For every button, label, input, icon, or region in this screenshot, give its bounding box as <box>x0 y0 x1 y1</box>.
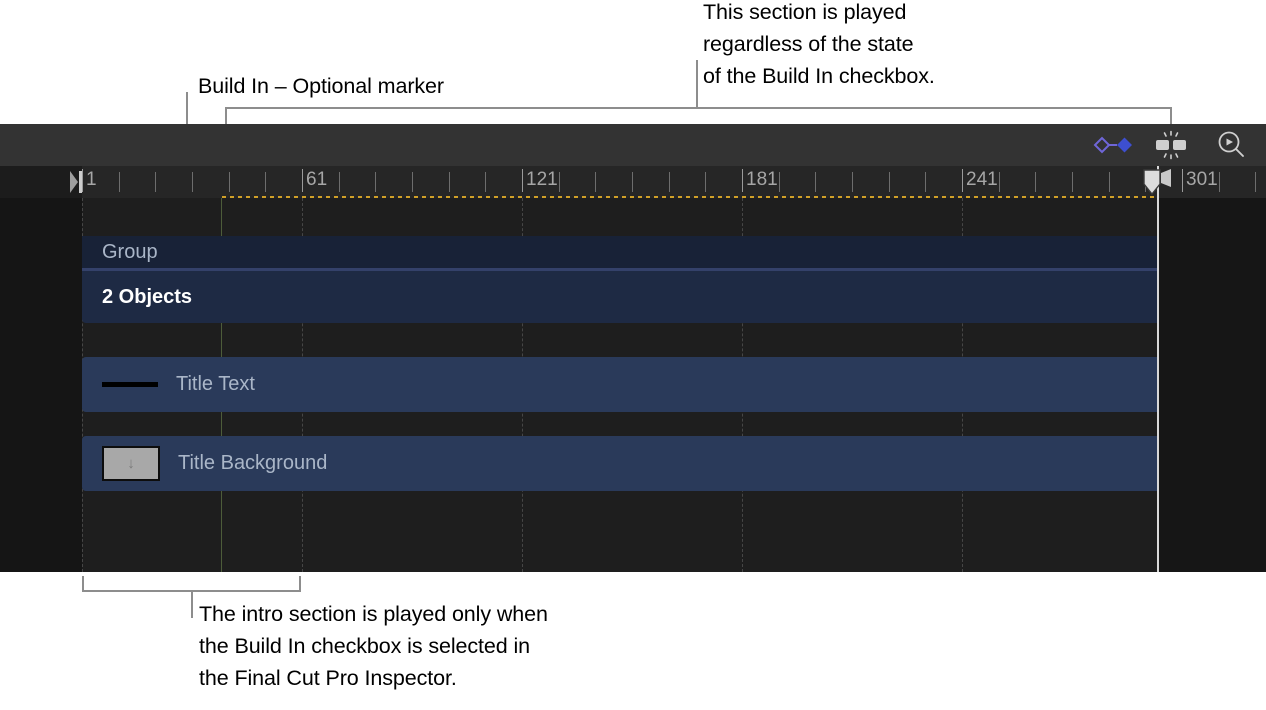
ruler-tick-minor <box>632 172 633 192</box>
ruler-tick-minor <box>705 172 706 192</box>
track-row-title-background[interactable]: ↓ Title Background <box>82 436 1158 491</box>
ruler-tick-major <box>1182 169 1183 192</box>
ruler-tick-minor <box>1109 172 1110 192</box>
ruler-tick-minor <box>265 172 266 192</box>
ruler-label-121: 121 <box>526 169 558 191</box>
text-line-thumbnail <box>102 382 166 387</box>
playhead-line[interactable] <box>1157 166 1159 572</box>
ruler-tick-minor <box>449 172 450 192</box>
ruler-tick-minor <box>999 172 1000 192</box>
ruler-tick-major <box>962 169 963 192</box>
timeline-ruler[interactable]: 161121181241301 <box>0 166 1266 198</box>
leader-line-intro-section <box>191 590 193 618</box>
ruler-tick-minor <box>559 172 560 192</box>
playhead-handle-icon[interactable] <box>1143 169 1173 196</box>
ruler-label-301: 301 <box>1186 169 1218 191</box>
ruler-tick-minor <box>1219 172 1220 192</box>
ruler-tick-minor <box>192 172 193 192</box>
ruler-tick-minor <box>229 172 230 192</box>
motion-timeline-window: 161121181241301 Group 2 Objects Title Te… <box>0 124 1266 572</box>
ruler-tick-major <box>82 169 83 192</box>
keyframe-diamond-icon[interactable] <box>1080 124 1138 166</box>
track-label-2-objects: 2 Objects <box>82 271 192 323</box>
ruler-tick-minor <box>925 172 926 192</box>
track-row-group[interactable]: Group <box>82 236 1158 268</box>
track-label-title-text: Title Text <box>82 357 255 412</box>
ruler-tick-major <box>522 169 523 192</box>
ruler-tick-minor <box>155 172 156 192</box>
ruler-tick-minor <box>119 172 120 192</box>
track-label-title-background: ↓ Title Background <box>82 436 327 491</box>
ruler-tick-major <box>742 169 743 192</box>
ruler-label-1: 1 <box>86 169 97 191</box>
ruler-tick-minor <box>1035 172 1036 192</box>
ruler-tick-major <box>302 169 303 192</box>
ruler-tick-minor <box>669 172 670 192</box>
ruler-tick-minor <box>889 172 890 192</box>
show-hide-behaviors-icon[interactable] <box>1142 124 1200 166</box>
ruler-tick-minor <box>852 172 853 192</box>
ruler-tick-minor <box>339 172 340 192</box>
track-label-title-text-text: Title Text <box>176 373 255 396</box>
ruler-tick-minor <box>815 172 816 192</box>
ruler-tick-minor <box>375 172 376 192</box>
track-row-title-text[interactable]: Title Text <box>82 357 1158 412</box>
track-row-2-objects[interactable]: 2 Objects <box>82 268 1158 323</box>
ruler-label-241: 241 <box>966 169 998 191</box>
track-label-title-background-text: Title Background <box>178 452 327 475</box>
track-area-tail <box>1158 198 1266 572</box>
image-down-arrow-thumbnail: ↓ <box>102 446 168 481</box>
ruler-tick-minor <box>412 172 413 192</box>
leader-line-section-played <box>696 60 698 108</box>
timeline-track-area[interactable]: Group 2 Objects Title Text ↓ Title Backg… <box>0 198 1266 572</box>
timeline-toolbar <box>0 124 1266 167</box>
annotation-build-in-marker: Build In – Optional marker <box>198 70 444 102</box>
annotation-section-played: This section is played regardless of the… <box>703 0 935 92</box>
ruler-tick-minor <box>485 172 486 192</box>
ruler-label-181: 181 <box>746 169 778 191</box>
track-label-group: Group <box>82 236 158 268</box>
annotation-intro-section: The intro section is played only when th… <box>199 598 548 694</box>
track-area-gutter <box>0 198 82 572</box>
ruler-tick-minor <box>779 172 780 192</box>
ruler-tick-minor <box>1072 172 1073 192</box>
ruler-tick-minor <box>595 172 596 192</box>
ruler-label-61: 61 <box>306 169 327 191</box>
zoom-search-icon[interactable] <box>1202 124 1260 166</box>
ruler-tick-minor <box>1255 172 1256 192</box>
